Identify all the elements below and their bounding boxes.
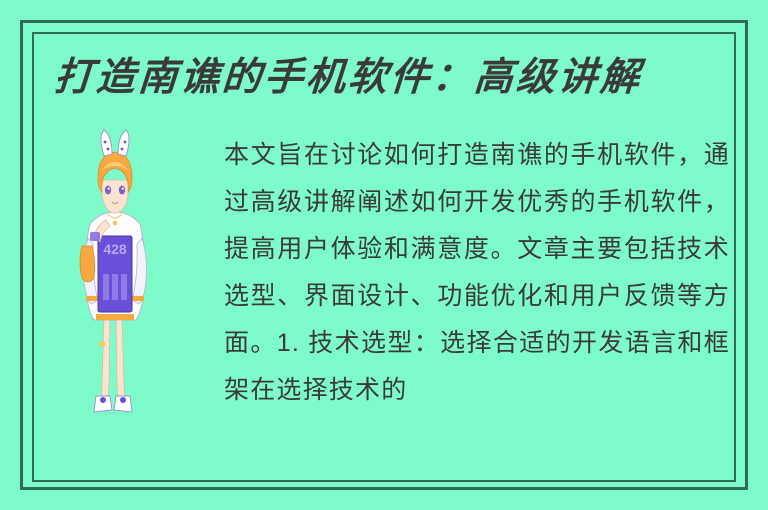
character-shoes — [94, 396, 132, 412]
poster-canvas: 打造南谯的手机软件：高级讲解 本文旨在讨论如何打造南谯的手机软件，通过高级讲解阐… — [0, 0, 768, 510]
character-head — [98, 152, 132, 213]
svg-text:428: 428 — [103, 241, 127, 257]
anime-character-illustration: 428 — [74, 128, 156, 424]
character-placard: 428 — [98, 236, 132, 312]
character-legs — [99, 316, 125, 400]
character-bag — [80, 246, 95, 282]
poster-title: 打造南谯的手机软件：高级讲解 — [52, 56, 695, 101]
poster-body-text: 本文旨在讨论如何打造南谯的手机软件，通过高级讲解阐述如何开发优秀的手机软件，提高… — [224, 132, 730, 414]
